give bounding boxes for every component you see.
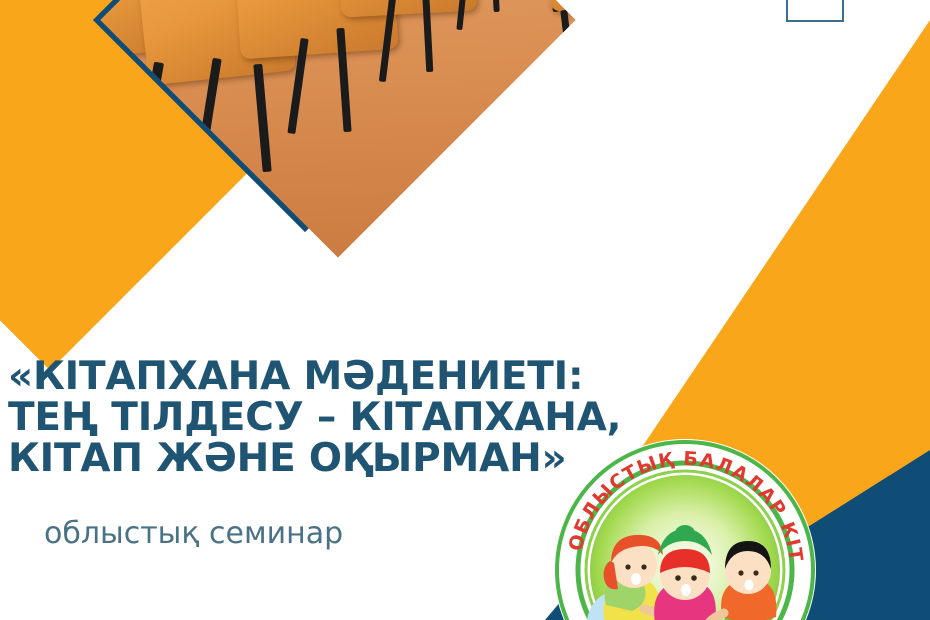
lecture-hall-photo xyxy=(100,0,575,258)
title-line-1: «КІТАПХАНА МӘДЕНИЕТІ: xyxy=(8,356,648,397)
library-emblem: АТЫНДАҒЫ ОБЛЫСТЫҚ БАЛАЛАР КІТАПХАНАСЫ xyxy=(552,437,818,620)
title-line-2: ТЕҢ ТІЛДЕСУ – КІТАПХАНА, xyxy=(8,397,648,438)
seminar-poster: «КІТАПХАНА МӘДЕНИЕТІ: ТЕҢ ТІЛДЕСУ – КІТА… xyxy=(0,0,930,620)
subtitle: облыстық семинар xyxy=(44,517,343,551)
corner-bracket-icon xyxy=(786,0,844,22)
